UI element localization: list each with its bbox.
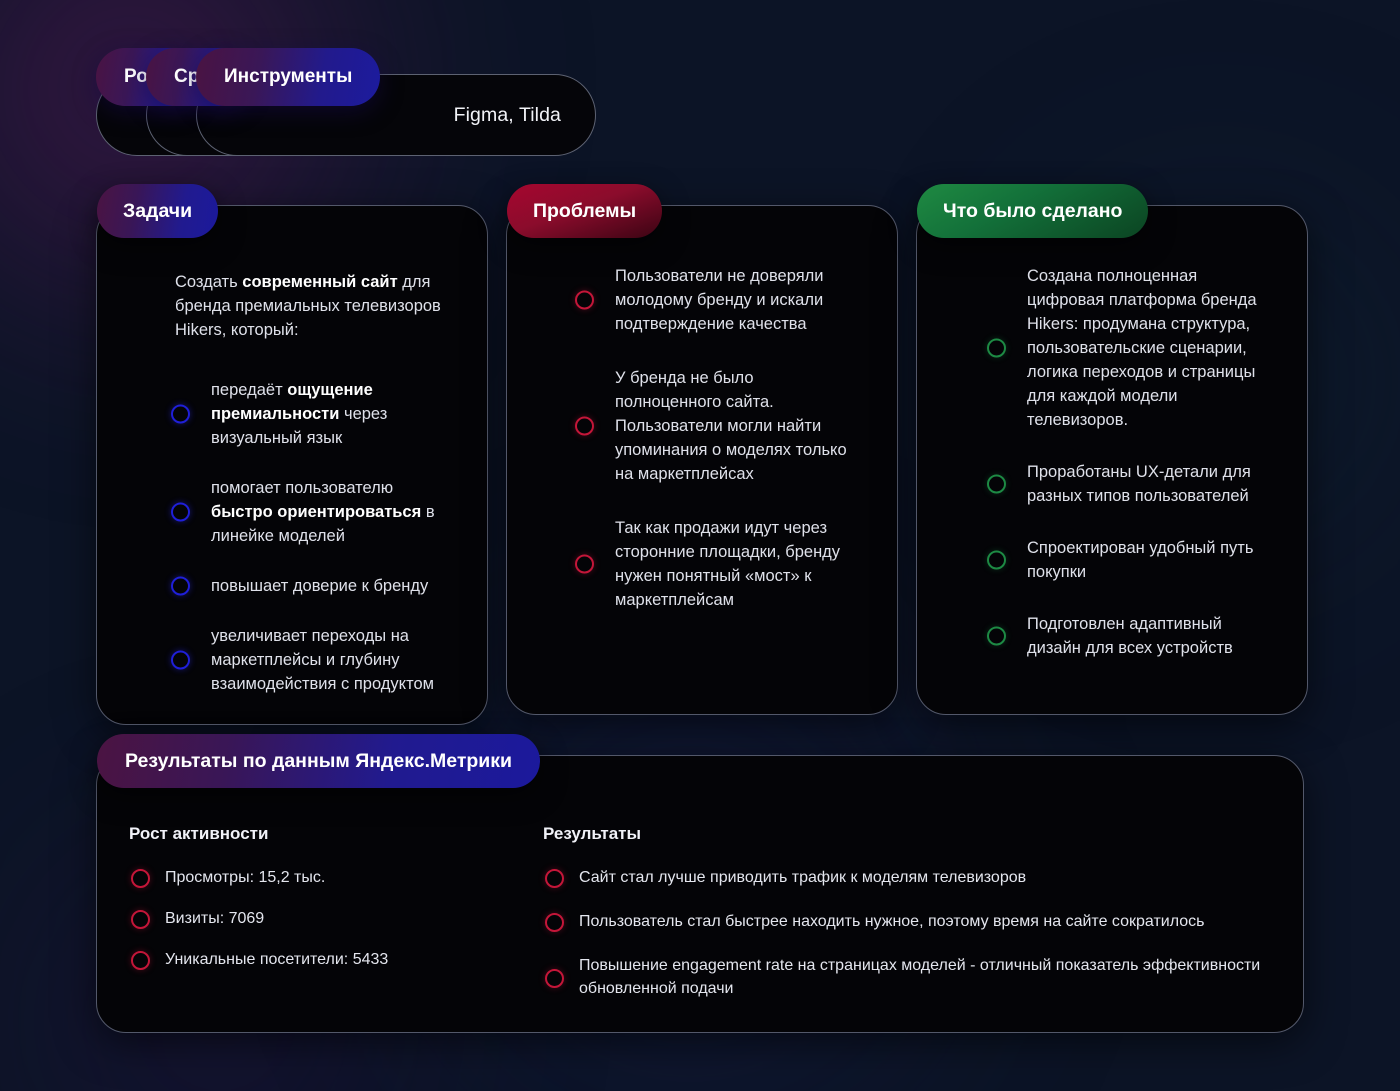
card-tasks-intro: Создать современный сайт для бренда прем… (175, 270, 453, 342)
bullet-circle-icon (987, 627, 1006, 646)
bullet-circle-icon (171, 503, 190, 522)
card-problems-bullet-2: Так как продажи идут через сторонние пло… (615, 516, 863, 612)
card-results: Результаты по данным Яндекс.Метрики Рост… (96, 755, 1304, 1033)
card-results-body: Рост активности Просмотры: 15,2 тыс. Виз… (97, 756, 1303, 1021)
results-activity-list: Просмотры: 15,2 тыс. Визиты: 7069 Уникал… (129, 866, 459, 971)
card-done-bullet-3: Подготовлен адаптивный дизайн для всех у… (1027, 612, 1273, 660)
card-tasks-bullet-0: передаёт ощущение премиальности через ви… (211, 378, 453, 450)
results-outcomes-item-2: Повышение engagement rate на страницах м… (579, 957, 1260, 997)
list-item: Спроектирован удобный путь покупки (987, 536, 1273, 584)
list-item: Проработаны UX-детали для разных типов п… (987, 460, 1273, 508)
list-item: Так как продажи идут через сторонние пло… (575, 516, 863, 612)
bullet-circle-icon (171, 577, 190, 596)
card-results-tag: Результаты по данным Яндекс.Метрики (97, 734, 540, 788)
bullet-circle-icon (575, 555, 594, 574)
results-activity-item-1: Визиты: 7069 (165, 910, 264, 927)
card-problems-bullet-0: Пользователи не доверяли молодому бренду… (615, 264, 863, 336)
bullet-circle-icon (987, 339, 1006, 358)
card-tasks-bullet-1: помогает пользователю быстро ориентирова… (211, 476, 453, 548)
list-item: передаёт ощущение премиальности через ви… (171, 378, 453, 450)
bullet-circle-icon (171, 651, 190, 670)
bullet-circle-icon (131, 910, 150, 929)
bullet-circle-icon (171, 405, 190, 424)
list-item: помогает пользователю быстро ориентирова… (171, 476, 453, 548)
card-tasks-bullet-3: увеличивает переходы на маркетплейсы и г… (211, 624, 453, 696)
card-tasks-intro-bold: современный сайт (242, 273, 397, 291)
card-problems-bullet-1: У бренда не было полноценного сайта. Пол… (615, 366, 863, 486)
results-outcomes-list: Сайт стал лучше приводить трафик к модел… (543, 866, 1263, 1000)
meta-pill-row: UI-UX дизайнер Роль 1,5 месяца Срок Figm… (96, 48, 196, 156)
list-item: Просмотры: 15,2 тыс. (129, 866, 459, 889)
card-done-bullet-0: Создана полноценная цифровая платформа б… (1027, 264, 1273, 432)
card-tasks-bullet-2: повышает доверие к бренду (211, 574, 428, 598)
bullet-circle-icon (575, 291, 594, 310)
list-item: Пользователи не доверяли молодому бренду… (575, 264, 863, 336)
list-item: увеличивает переходы на маркетплейсы и г… (171, 624, 453, 696)
results-column-activity: Рост активности Просмотры: 15,2 тыс. Виз… (129, 824, 459, 1021)
card-problems-tag: Проблемы (507, 184, 662, 238)
list-item: Уникальные посетители: 5433 (129, 948, 459, 971)
bullet-circle-icon (545, 913, 564, 932)
card-done-body: Создана полноценная цифровая платформа б… (917, 206, 1307, 690)
card-done-bullet-list: Создана полноценная цифровая платформа б… (987, 264, 1273, 660)
bullet-circle-icon (575, 417, 594, 436)
list-item: повышает доверие к бренду (171, 574, 453, 598)
list-item: Сайт стал лучше приводить трафик к модел… (543, 866, 1263, 889)
meta-pill-tools-value: Figma, Tilda (454, 104, 561, 127)
list-item: Подготовлен адаптивный дизайн для всех у… (987, 612, 1273, 660)
results-activity-heading: Рост активности (129, 824, 459, 844)
card-done-bullet-2: Спроектирован удобный путь покупки (1027, 536, 1273, 584)
results-outcomes-heading: Результаты (543, 824, 1263, 844)
card-done: Что было сделано Создана полноценная циф… (916, 205, 1308, 715)
card-tasks: Задачи Создать современный сайт для брен… (96, 205, 488, 725)
bullet-circle-icon (987, 551, 1006, 570)
bullet-circle-icon (545, 869, 564, 888)
bullet-circle-icon (987, 475, 1006, 494)
bullet-circle-icon (131, 951, 150, 970)
card-tasks-body: Создать современный сайт для бренда прем… (97, 206, 487, 726)
results-activity-item-2: Уникальные посетители: 5433 (165, 951, 388, 968)
list-item: Повышение engagement rate на страницах м… (543, 954, 1263, 1000)
results-column-outcomes: Результаты Сайт стал лучше приводить тра… (543, 824, 1263, 1021)
card-tasks-tag: Задачи (97, 184, 218, 238)
card-tasks-intro-pre: Создать (175, 273, 242, 291)
bullet-circle-icon (545, 969, 564, 988)
card-problems-body: Пользователи не доверяли молодому бренду… (507, 206, 897, 642)
list-item: Пользователь стал быстрее находить нужно… (543, 910, 1263, 933)
list-item: У бренда не было полноценного сайта. Пол… (575, 366, 863, 486)
card-problems-bullet-list: Пользователи не доверяли молодому бренду… (575, 264, 863, 612)
bullet-circle-icon (131, 869, 150, 888)
content-card-row: Задачи Создать современный сайт для брен… (96, 205, 1308, 725)
card-problems: Проблемы Пользователи не доверяли молодо… (506, 205, 898, 715)
meta-pill-tools-tag: Инструменты (196, 48, 380, 106)
list-item: Визиты: 7069 (129, 907, 459, 930)
results-outcomes-item-1: Пользователь стал быстрее находить нужно… (579, 913, 1204, 930)
slide-canvas: UI-UX дизайнер Роль 1,5 месяца Срок Figm… (0, 0, 1400, 1091)
card-done-bullet-1: Проработаны UX-детали для разных типов п… (1027, 460, 1273, 508)
results-outcomes-item-0: Сайт стал лучше приводить трафик к модел… (579, 869, 1026, 886)
list-item: Создана полноценная цифровая платформа б… (987, 264, 1273, 432)
card-tasks-bullet-list: передаёт ощущение премиальности через ви… (171, 378, 453, 696)
results-activity-item-0: Просмотры: 15,2 тыс. (165, 869, 325, 886)
card-done-tag: Что было сделано (917, 184, 1148, 238)
